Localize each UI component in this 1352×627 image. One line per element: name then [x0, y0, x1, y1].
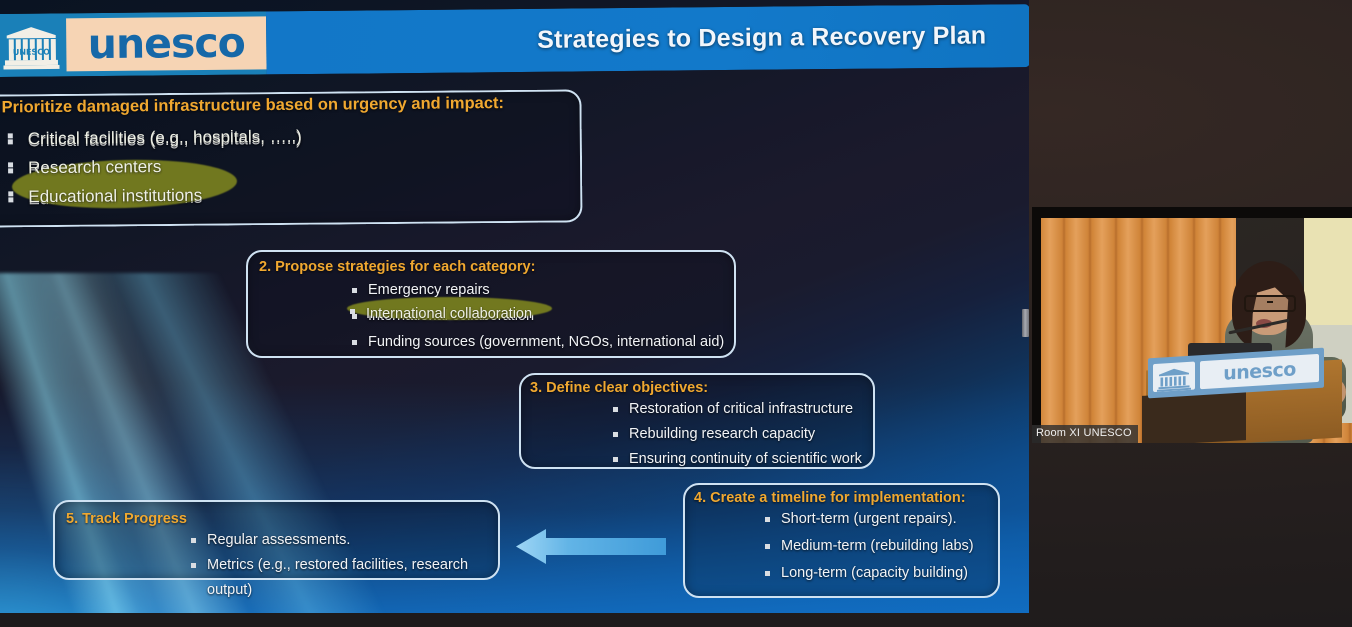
video-background-screen [1304, 215, 1352, 333]
speaker-video-tile[interactable]: unesco Room XI UNESCO [1032, 207, 1352, 443]
content-box-1-title: Prioritize damaged infrastructure based … [1, 94, 504, 117]
content-box-2[interactable]: 2. Propose strategies for each category:… [246, 250, 736, 358]
content-box-1-list: Critical facilities (e.g., hospitals, ….… [4, 124, 303, 214]
content-box-3-title: 3. Define clear objectives: [530, 380, 708, 396]
content-box-2-title: 2. Propose strategies for each category: [259, 259, 535, 275]
slide-header-band: UNESCO unesco Strategies to Design a Rec… [0, 4, 1029, 77]
content-box-5[interactable]: 5. Track Progress Regular assessments. M… [53, 500, 500, 580]
unesco-logo: UNESCO unesco [0, 11, 267, 77]
list-item: Funding sources (government, NGOs, inter… [348, 329, 724, 355]
panel-divider-handle[interactable] [1022, 309, 1029, 337]
presentation-slide[interactable]: UNESCO unesco Strategies to Design a Rec… [0, 0, 1029, 613]
list-item: Emergency repairs [348, 277, 724, 303]
content-box-5-list: Regular assessments. Metrics (e.g., rest… [187, 528, 498, 603]
content-box-4-list: Short-term (urgent repairs). Medium-term… [761, 506, 974, 587]
unesco-temple-icon: UNESCO [2, 19, 60, 72]
speaker-glasses-icon [1244, 295, 1296, 312]
video-letterbox-top [1032, 207, 1352, 218]
content-box-3[interactable]: 3. Define clear objectives: Restoration … [519, 373, 875, 469]
unesco-wordmark: unesco [66, 16, 266, 71]
list-item: Ensuring continuity of scientific work [609, 447, 862, 472]
content-box-1[interactable]: Prioritize damaged infrastructure based … [0, 89, 583, 227]
list-item: Restoration of critical infrastructure [609, 397, 862, 422]
content-box-3-list: Restoration of critical infrastructure R… [609, 397, 862, 472]
content-box-5-title: 5. Track Progress [66, 511, 187, 527]
podium-sign-wordmark: unesco [1200, 354, 1319, 389]
content-box-2-list: Emergency repairs International collabor… [348, 277, 724, 355]
meeting-app-canvas: UNESCO unesco Strategies to Design a Rec… [0, 0, 1352, 627]
content-box-4[interactable]: 4. Create a timeline for implementation:… [683, 483, 1000, 598]
list-item: Medium-term (rebuilding labs) [761, 533, 974, 560]
svg-text:UNESCO: UNESCO [13, 47, 50, 56]
slide-title: Strategies to Design a Recovery Plan [537, 22, 986, 55]
content-box-4-title: 4. Create a timeline for implementation: [694, 490, 966, 506]
list-item: Metrics (e.g., restored facilities, rese… [187, 553, 498, 603]
speaker-name-label: Room XI UNESCO [1032, 425, 1138, 443]
podium-sign-text: unesco [1223, 360, 1296, 383]
list-item: Rebuilding research capacity [609, 422, 862, 447]
list-item: Long-term (capacity building) [761, 560, 974, 587]
unesco-wordmark-text: unesco [88, 23, 245, 66]
list-item: Research centers [4, 153, 302, 185]
left-arrow-icon [516, 528, 666, 565]
video-letterbox-left [1032, 207, 1041, 443]
list-item: Critical facilities (e.g., hospitals, ….… [4, 124, 302, 156]
slide-title-band: Strategies to Design a Recovery Plan [266, 4, 1029, 74]
list-item: Educational institutions [4, 182, 302, 214]
podium-base [1142, 390, 1246, 443]
list-item: Regular assessments. [187, 528, 498, 553]
podium-temple-icon [1153, 362, 1195, 393]
list-item: Short-term (urgent repairs). [761, 506, 974, 533]
list-item: International collaboration [348, 303, 724, 329]
